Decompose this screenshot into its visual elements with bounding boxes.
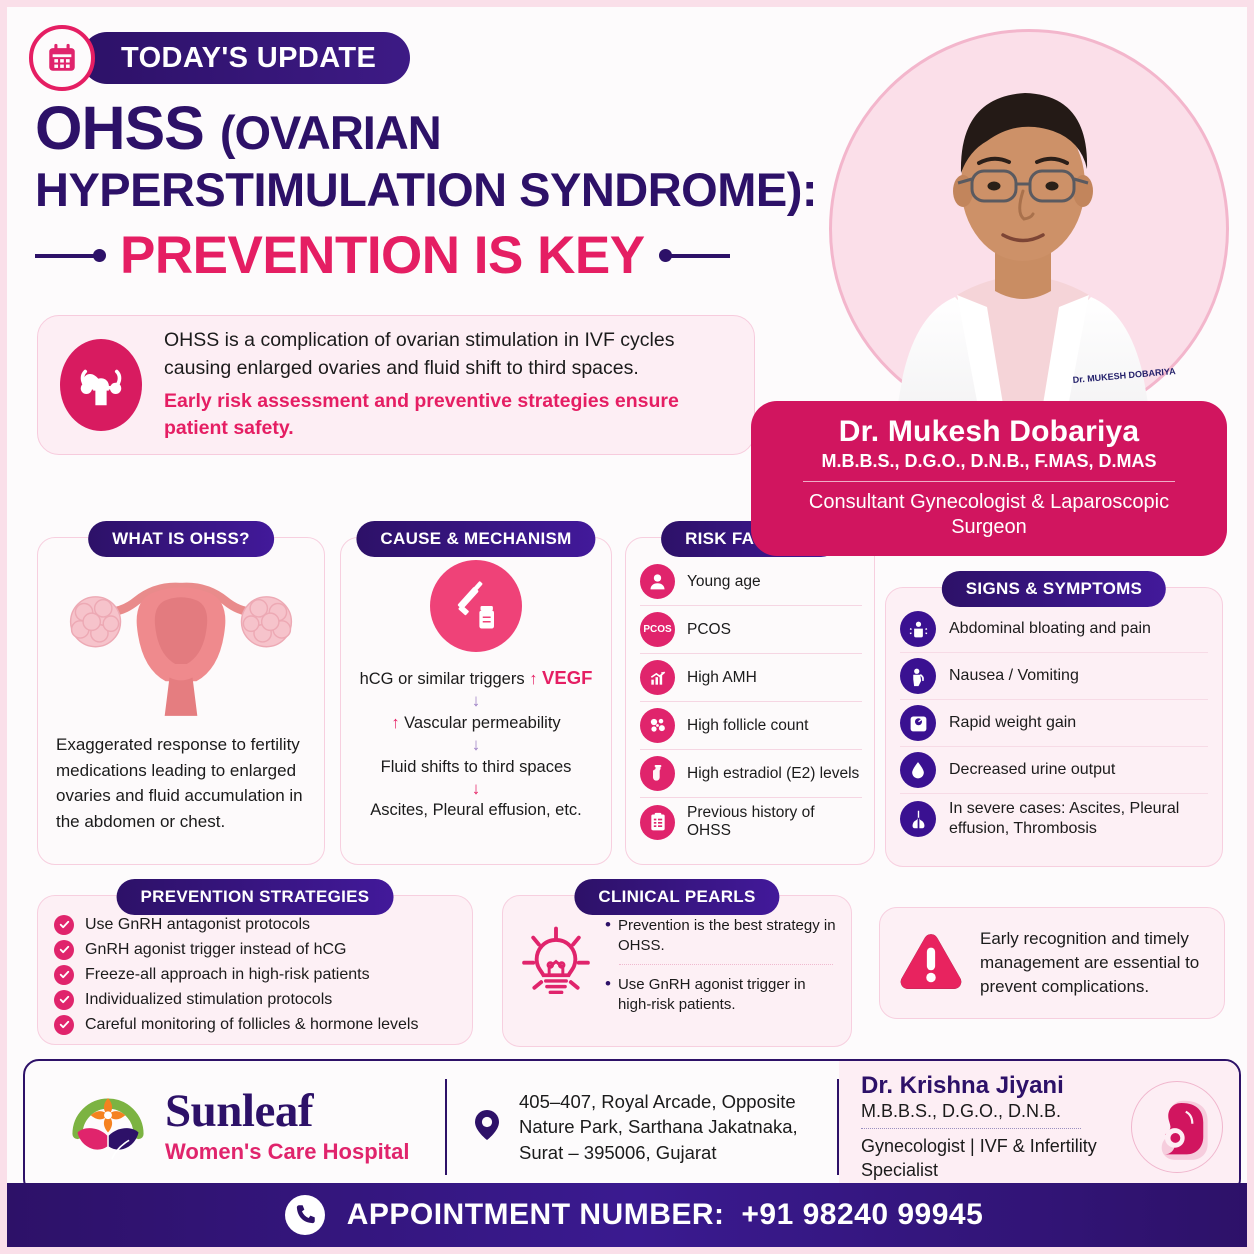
flow-step-1-text: hCG or similar triggers [360,670,525,688]
uterus-ovaries-illustration [38,538,324,728]
symptom-row: Decreased urine output [900,747,1208,794]
bullet-icon: • [605,975,611,1014]
hospital-logo: Sunleaf Women's Care Hospital [25,1061,445,1193]
prevention-label: Individualized stimulation protocols [85,991,332,1009]
check-circle-icon [54,990,74,1010]
pcos-icon: PCOS [640,612,675,647]
symptom-row: Abdominal bloating and pain [900,606,1208,653]
divider [803,481,1175,482]
check-circle-icon [54,965,74,985]
page-title: OHSS (OVARIAN HYPERSTIMULATION SYNDROME)… [35,97,825,286]
card-title-what-is-ohss: WHAT IS OHSS? [88,521,274,557]
what-is-ohss-text: Exaggerated response to fertility medica… [38,728,324,834]
doctor-role: Consultant Gynecologist & Laparoscopic S… [769,490,1209,540]
flow-arrow-2: ↓ [341,736,611,755]
intro-highlight: Early risk assessment and preventive str… [164,388,732,443]
appointment-label: APPOINTMENT NUMBER: [347,1198,725,1231]
risk-factor-label: Young age [687,573,761,591]
doctor2-name: Dr. Krishna Jiyani [861,1072,1121,1100]
prevention-row: Freeze-all approach in high-risk patient… [54,962,456,987]
prevention-row: Careful monitoring of follicles & hormon… [54,1012,456,1037]
todays-update-badge: TODAY'S UPDATE [29,25,410,91]
card-title-clinical-pearls: CLINICAL PEARLS [574,879,779,915]
risk-factor-row: High AMH [640,654,862,702]
risk-factor-label: High follicle count [687,717,808,735]
risk-factor-row: Young age [640,558,862,606]
card-cause-mechanism: CAUSE & MECHANISM hCG or similar trigger… [340,537,612,865]
title-deco-right [659,249,730,262]
risk-factor-label: Previous history of OHSS [687,804,862,840]
location-pin-icon [469,1107,505,1148]
doctor-name: Dr. Mukesh Dobariya [769,415,1209,449]
mother-baby-icon [1131,1081,1223,1173]
alert-text: Early recognition and timely management … [980,927,1206,998]
sunleaf-flower-leaf-logo [65,1084,151,1170]
card-alert: Early recognition and timely management … [879,907,1225,1019]
flow-step-4: Ascites, Pleural effusion, etc. [341,798,611,823]
appointment-bar: APPOINTMENT NUMBER: +91 98240 99945 [7,1183,1254,1247]
chart-up-icon [640,660,675,695]
risk-factor-row: Previous history of OHSS [640,798,862,846]
test-tube-icon [640,756,675,791]
infographic-page: Dr. MUKESH DOBARIYA [0,0,1254,1254]
badge-label: TODAY'S UPDATE [81,32,410,84]
weight-scale-icon [900,705,936,741]
brand-name: Sunleaf [165,1089,409,1134]
title-deco-left [35,249,106,262]
warning-triangle-icon [898,931,964,996]
flow-step-1-up: ↑ [529,670,537,688]
card-clinical-pearls: CLINICAL PEARLS [502,895,852,1047]
title-main: OHSS [35,94,204,162]
lungs-icon [900,801,936,837]
woman-icon [640,564,675,599]
flow-step-2: ↑ Vascular permeability [341,711,611,736]
check-circle-icon [54,915,74,935]
prevention-label: Careful monitoring of follicles & hormon… [85,1016,418,1034]
flow-step-1: hCG or similar triggers ↑ VEGF [341,664,611,692]
intro-text: OHSS is a complication of ovarian stimul… [164,329,674,379]
lightbulb-icon [513,924,599,1006]
card-prevention-strategies: PREVENTION STRATEGIES Use GnRH antagonis… [37,895,473,1045]
risk-factor-row: PCOS PCOS [640,606,862,654]
card-signs-symptoms: SIGNS & SYMPTOMS Abdominal bloating and … [885,587,1223,867]
intro-box: OHSS is a complication of ovarian stimul… [37,315,755,455]
symptom-row: Nausea / Vomiting [900,653,1208,700]
prevention-label: GnRH agonist trigger instead of hCG [85,941,346,959]
bloating-person-icon [900,611,936,647]
flow-step-1-emphasis: VEGF [542,667,592,688]
prevention-row: GnRH agonist trigger instead of hCG [54,937,456,962]
title-paren: (OVARIAN [220,106,441,159]
vomiting-person-icon [900,658,936,694]
divider [861,1128,1081,1129]
water-drop-icon [900,752,936,788]
pcos-icon-text: PCOS [643,624,671,635]
prevention-row: Individualized stimulation protocols [54,987,456,1012]
card-risk-factors: RISK FACTORS Young age PCOS PCOS High AM… [625,537,875,865]
symptom-label: In severe cases: Ascites, Pleural effusi… [949,799,1208,840]
flow-step-2-text: Vascular permeability [404,714,561,732]
title-line2: HYPERSTIMULATION SYNDROME): [35,163,825,217]
doctor-degrees: M.B.B.S., D.G.O., D.N.B., F.MAS, D.MAS [769,451,1209,472]
title-key: PREVENTION IS KEY [120,225,645,286]
symptom-row: In severe cases: Ascites, Pleural effusi… [900,794,1208,845]
prevention-label: Freeze-all approach in high-risk patient… [85,966,370,984]
card-title-prevention-strategies: PREVENTION STRATEGIES [117,879,394,915]
brand-subtitle: Women's Care Hospital [165,1139,409,1165]
risk-factor-label: High AMH [687,669,757,687]
flow-arrow-1: ↓ [341,692,611,711]
mechanism-flow: hCG or similar triggers ↑ VEGF ↓ ↑ Vascu… [341,664,611,824]
risk-factor-label: PCOS [687,621,731,639]
address-text: 405–407, Royal Arcade, Opposite Nature P… [519,1089,837,1164]
pearl-label: Use GnRH agonist trigger in high-risk pa… [618,975,837,1014]
pearl-label: Prevention is the best strategy in OHSS. [618,916,837,955]
appointment-number: +91 98240 99945 [741,1198,983,1231]
pearl-item: • Use GnRH agonist trigger in high-risk … [605,975,837,1014]
card-title-signs-symptoms: SIGNS & SYMPTOMS [942,571,1166,607]
check-circle-icon [54,1015,74,1035]
bullet-icon: • [605,916,611,955]
risk-factor-row: High follicle count [640,702,862,750]
doctor-name-plate: Dr. Mukesh Dobariya M.B.B.S., D.G.O., D.… [751,401,1227,556]
phone-icon [285,1195,325,1235]
symptom-row: Rapid weight gain [900,700,1208,747]
doctor2-degrees: M.B.B.S., D.G.O., D.N.B. [861,1101,1121,1122]
symptom-label: Nausea / Vomiting [949,666,1079,686]
flow-arrow-3: ↓ [341,780,611,799]
follicles-icon [640,708,675,743]
calendar-icon [29,25,95,91]
address-block: 405–407, Royal Arcade, Opposite Nature P… [447,1061,837,1193]
risk-factor-label: High estradiol (E2) levels [687,765,859,783]
doctor2-block: Dr. Krishna Jiyani M.B.B.S., D.G.O., D.N… [839,1061,1239,1193]
clipboard-history-icon [640,805,675,840]
pearl-item: • Prevention is the best strategy in OHS… [605,916,837,955]
check-circle-icon [54,940,74,960]
doctor2-role: Gynecologist | IVF & Infertility Special… [861,1135,1121,1182]
risk-factor-row: High estradiol (E2) levels [640,750,862,798]
card-what-is-ohss: WHAT IS OHSS? Exaggerated [37,537,325,865]
uterus-icon [60,339,142,431]
symptom-label: Decreased urine output [949,760,1115,780]
flow-step-2-up: ↑ [391,714,399,732]
footer: Sunleaf Women's Care Hospital 405–407, R… [23,1059,1241,1195]
symptom-label: Rapid weight gain [949,713,1076,733]
syringe-vial-icon [430,560,522,652]
prevention-row: Use GnRH antagonist protocols [54,912,456,937]
card-title-cause-mechanism: CAUSE & MECHANISM [356,521,595,557]
flow-step-3: Fluid shifts to third spaces [341,755,611,780]
divider [619,964,833,965]
prevention-label: Use GnRH antagonist protocols [85,916,310,934]
symptom-label: Abdominal bloating and pain [949,619,1151,639]
